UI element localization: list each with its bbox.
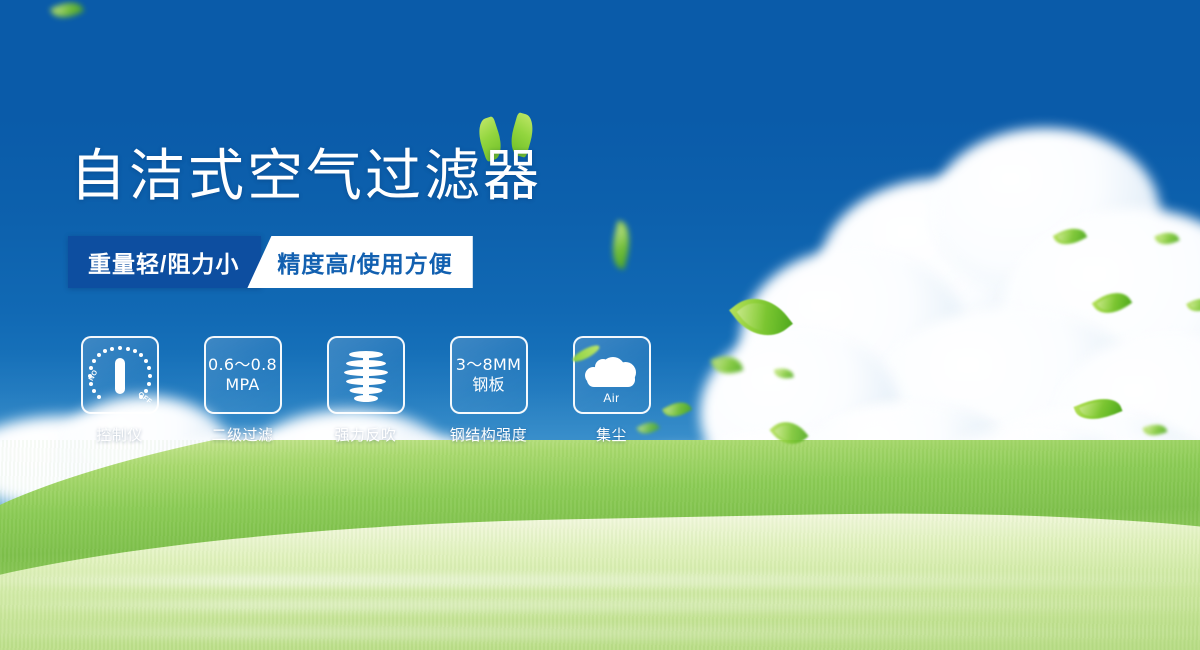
feature-caption: 集尘 [596, 424, 627, 445]
gauge-dial-icon: NO OFF [89, 346, 151, 404]
feature-list: NO OFF 控制仪 0.6～0.8 MPA 二级过滤 [70, 336, 661, 445]
steel-thickness: 3～8MM [456, 355, 521, 374]
coil-blowback-icon [343, 349, 389, 401]
pressure-text-icon: 0.6～0.8 MPA [208, 355, 277, 395]
feature-item-dust[interactable]: Air 集尘 [562, 336, 661, 445]
steel-material: 钢板 [456, 375, 521, 395]
gauge-needle [115, 358, 125, 394]
subtitle-left: 重量轻/阻力小 [68, 236, 261, 288]
steel-plate-text-icon: 3～8MM 钢板 [456, 355, 521, 395]
feature-item-blowback[interactable]: 强力反吹 [316, 336, 415, 445]
feature-item-steel[interactable]: 3～8MM 钢板 钢结构强度 [439, 336, 538, 445]
feature-item-controller[interactable]: NO OFF 控制仪 [70, 336, 169, 445]
feature-icon-box: 0.6～0.8 MPA [204, 336, 282, 414]
grass-texture [0, 440, 1200, 650]
air-label: Air [583, 391, 641, 405]
feature-icon-box: 3～8MM 钢板 [450, 336, 528, 414]
cloud-air-icon: Air [583, 349, 641, 401]
banner-stage: 自洁式空气过滤器 重量轻/阻力小 精度高/使用方便 [0, 0, 1200, 650]
feature-item-filtration[interactable]: 0.6～0.8 MPA 二级过滤 [193, 336, 292, 445]
feature-caption: 控制仪 [96, 424, 143, 445]
gauge-label-off: OFF [136, 391, 153, 406]
feature-caption: 钢结构强度 [450, 424, 528, 445]
gauge-label-no: NO [87, 369, 99, 382]
feature-caption: 强力反吹 [334, 424, 396, 445]
subtitle-right: 精度高/使用方便 [247, 236, 472, 288]
subtitle-bar: 重量轻/阻力小 精度高/使用方便 [68, 236, 473, 288]
feature-icon-box: Air [573, 336, 651, 414]
pressure-unit: MPA [208, 375, 277, 395]
feature-caption: 二级过滤 [211, 424, 273, 445]
feature-icon-box [327, 336, 405, 414]
pressure-value: 0.6～0.8 [208, 355, 277, 374]
page-title: 自洁式空气过滤器 [70, 146, 542, 208]
grass-field [0, 440, 1200, 650]
feature-icon-box: NO OFF [81, 336, 159, 414]
